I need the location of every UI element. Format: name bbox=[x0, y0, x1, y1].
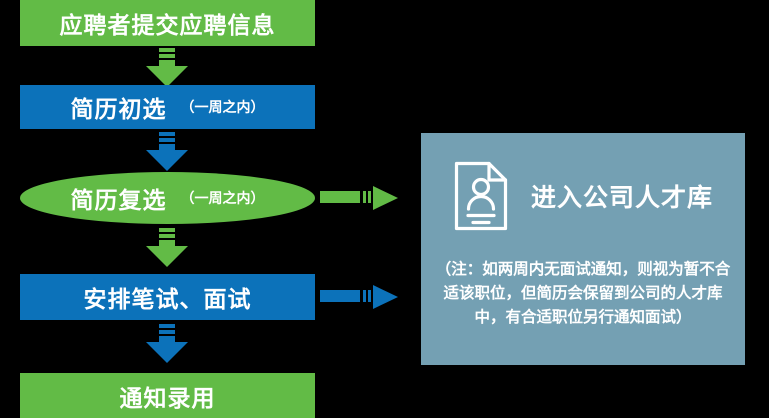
talent-pool-panel[interactable]: 进入公司人才库 （注：如两周内无面试通知，则视为暂不合适该职位，但简历会保留到公… bbox=[421, 133, 745, 365]
flow-node-offer-label: 通知录用 bbox=[120, 379, 216, 413]
flow-node-interview[interactable]: 安排笔试、面试 bbox=[20, 274, 315, 320]
recruitment-flowchart: 应聘者提交应聘信息 简历初选 （一周之内） 简历复选 （一周之内） bbox=[0, 0, 769, 418]
resume-person-icon bbox=[453, 160, 509, 232]
connector-interview-to-offer bbox=[144, 324, 190, 364]
talent-pool-title: 进入公司人才库 bbox=[531, 178, 713, 214]
connector-submit-to-screening bbox=[144, 48, 190, 88]
flow-node-screening-label: 简历初选 bbox=[71, 90, 167, 124]
talent-pool-header: 进入公司人才库 bbox=[421, 150, 745, 242]
flow-node-submit-label: 应聘者提交应聘信息 bbox=[60, 6, 276, 40]
flow-node-offer[interactable]: 通知录用 bbox=[20, 373, 315, 418]
connector-screening-to-reselect bbox=[144, 132, 190, 172]
flow-node-reselect-label: 简历复选 bbox=[71, 181, 167, 215]
flow-node-reselect[interactable]: 简历复选 （一周之内） bbox=[20, 172, 315, 224]
flow-node-screening-note: （一周之内） bbox=[181, 97, 265, 117]
flow-node-screening[interactable]: 简历初选 （一周之内） bbox=[20, 85, 315, 129]
connector-interview-to-pool bbox=[320, 284, 400, 310]
flow-node-submit[interactable]: 应聘者提交应聘信息 bbox=[20, 0, 315, 46]
connector-reselect-to-pool bbox=[320, 185, 400, 211]
flow-node-interview-label: 安排笔试、面试 bbox=[84, 280, 252, 314]
connector-reselect-to-interview bbox=[144, 228, 190, 268]
talent-pool-note: （注：如两周内无面试通知，则视为暂不合适该职位，但简历会保留到公司的人才库中，有… bbox=[433, 258, 733, 330]
flow-node-reselect-note: （一周之内） bbox=[181, 188, 265, 208]
